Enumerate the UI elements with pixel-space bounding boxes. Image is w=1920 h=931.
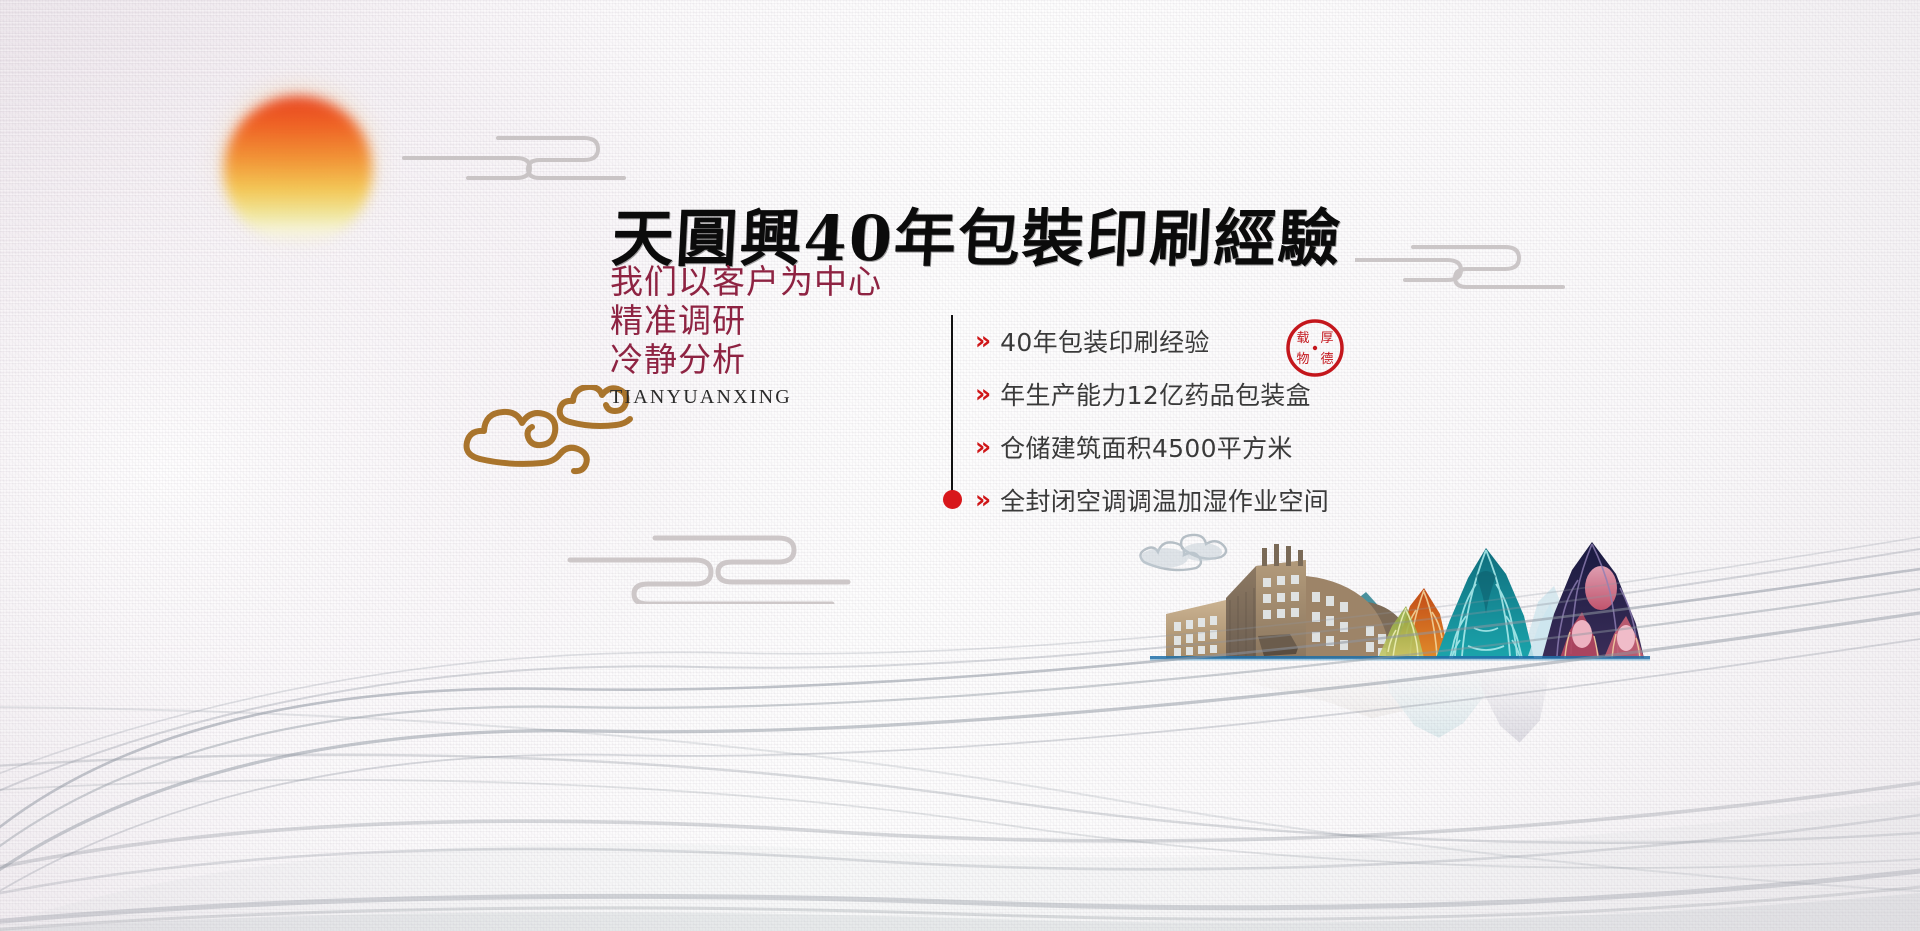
list-item: » 全封闭空调调温加湿作业空间 — [975, 481, 1329, 518]
slogan-line-1: 我们以客户为中心 — [610, 262, 900, 301]
cloud-line-icon-top-left — [398, 124, 628, 186]
slogan-line-2: 精准调研 — [610, 301, 900, 340]
hero-banner: 天圓興40年包裝印刷經驗 我们以客户为中心 精准调研 冷静分析 TIANYUAN… — [0, 0, 1920, 931]
chevron-right-icon: » — [975, 487, 991, 512]
chevron-right-icon: » — [975, 328, 991, 353]
chevron-right-icon: » — [975, 381, 991, 406]
cloud-line-icon-bottom-left — [560, 520, 860, 604]
slogan-pinyin: TIANYUANXING — [610, 386, 900, 409]
seal-char-2: 物 — [1296, 352, 1309, 367]
list-item-label: 全封闭空调调温加湿作业空间 — [1000, 482, 1329, 518]
list-item: » 40年包装印刷经验 — [975, 322, 1329, 359]
list-item: » 年生产能力12亿药品包装盒 — [975, 375, 1329, 412]
seal-char-3: 德 — [1320, 352, 1333, 367]
list-item-label: 年生产能力12亿药品包装盒 — [1000, 376, 1311, 412]
feature-list: » 40年包装印刷经验 » 年生产能力12亿药品包装盒 » 仓储建筑面积4500… — [975, 322, 1329, 534]
slogan-line-3: 冷静分析 — [610, 340, 900, 379]
list-item-label: 40年包装印刷经验 — [1000, 323, 1210, 359]
sun-icon — [224, 96, 372, 244]
cloud-line-icon-right — [1355, 232, 1595, 292]
seal-stamp-icon: 载 厚 物 德 — [1285, 318, 1345, 378]
seal-char-1: 厚 — [1320, 331, 1333, 346]
list-item-label: 仓储建筑面积4500平方米 — [1000, 429, 1293, 465]
divider-dot — [943, 490, 962, 509]
slogan-block: 我们以客户为中心 精准调研 冷静分析 TIANYUANXING — [610, 262, 900, 409]
list-item: » 仓储建筑面积4500平方米 — [975, 428, 1329, 465]
factory-and-mountains-illustration — [1130, 530, 1650, 710]
seal-char-0: 载 — [1296, 331, 1309, 346]
chevron-right-icon: » — [975, 434, 991, 459]
vertical-divider — [951, 315, 953, 497]
